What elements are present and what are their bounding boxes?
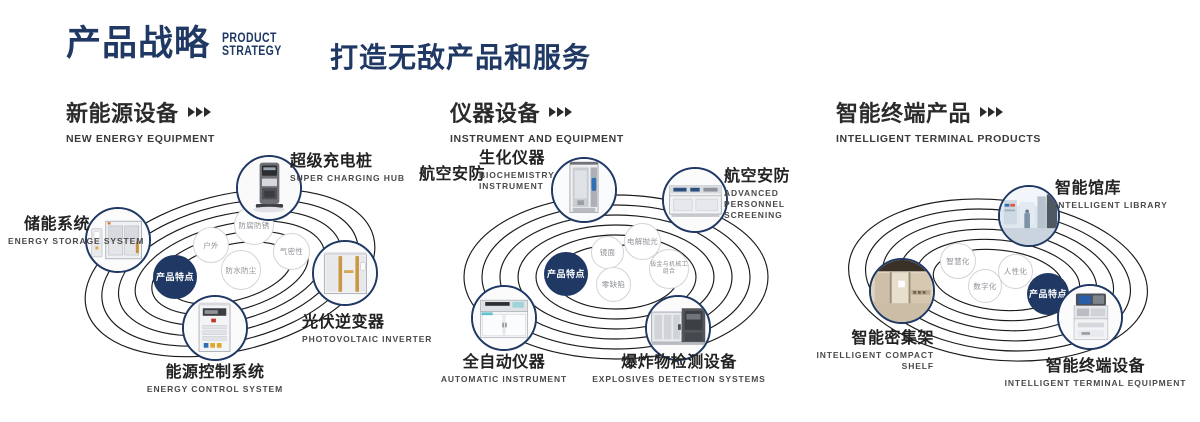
label-en-automatic-instrument: AUTOMATIC INSTRUMENT [409,374,599,385]
automatic-instrument-photo [473,287,535,349]
feature-bubble-1: 数字化 [968,269,1002,303]
label-en-advanced-personnel-screening: ADVANCED PERSONNEL SCREENING [724,188,814,221]
feature-bubble-3: 气密性 [273,233,310,270]
label-en-biochemistry-instrument: BIOCHEMISTRY INSTRUMENT [479,170,555,192]
label-automatic-instrument: 全自动仪器 AUTOMATIC INSTRUMENT [409,353,599,385]
node-advanced-personnel-screening[interactable] [662,167,728,233]
feature-bubble-0: 智慧化 [940,243,976,279]
label-intelligent-library: 智能馆库 INTELLIGENT LIBRARY [1055,179,1168,211]
intelligent-library-photo [1000,187,1058,245]
feature-label-1: 电解抛光 [627,237,658,246]
compact-shelf-photo [871,260,933,322]
label-cn-automatic-instrument: 全自动仪器 [409,353,599,372]
feature-label-0: 户外 [203,241,219,250]
feature-core-bubble: 产品特点 [153,255,197,299]
page-subtitle: 打造无敌产品和服务 [330,36,591,76]
section-heading-intelligent-terminal: 智能终端产品 INTELLIGENT TERMINAL PRODUCTS [836,96,1041,145]
section-heading-new-energy: 新能源设备 NEW ENERGY EQUIPMENT [66,96,215,145]
feature-core-label: 产品特点 [156,272,194,283]
label-en-photovoltaic-inverter: PHOTOVOLTAIC INVERTER [302,334,432,345]
label-photovoltaic-inverter: 光伏逆变器 PHOTOVOLTAIC INVERTER [302,313,432,345]
section-title-cn-2: 智能终端产品 [836,96,1041,128]
label-cn-intelligent-terminal-equipment: 智能终端设备 [988,357,1200,376]
page-title-en: PRODUCT STRATEGY [222,31,282,57]
personnel-screening-photo [664,169,726,231]
label-en-intelligent-library: INTELLIGENT LIBRARY [1055,200,1168,211]
label-en-energy-storage-system: ENERGY STORAGE SYSTEM [8,236,90,247]
page-title-en-line2: STRATEGY [222,44,282,57]
node-intelligent-compact-shelf[interactable] [869,258,935,324]
section-title-en-2: INTELLIGENT TERMINAL PRODUCTS [836,133,1041,145]
feature-label-0: 智慧化 [946,257,969,266]
section-title-cn-0: 新能源设备 [66,96,215,128]
feature-label-2: 零缺陷 [602,280,625,289]
label-cn-explosives-detection-systems: 爆炸物检测设备 [579,353,779,372]
section-title-text-1: 仪器设备 [450,96,540,128]
label-aviation-security-left: 航空安防 [390,165,485,184]
label-en-explosives-detection-systems: EXPLOSIVES DETECTION SYSTEMS [579,374,779,385]
node-biochemistry-instrument[interactable] [551,157,617,223]
section-title-text-2: 智能终端产品 [836,96,971,128]
node-explosives-detection-systems[interactable] [645,295,711,361]
label-cn-intelligent-library: 智能馆库 [1055,179,1168,198]
label-cn-intelligent-compact-shelf: 智能密集架 [764,329,934,348]
page-title-cn: 产品战略 [66,26,210,61]
label-cn-advanced-personnel-screening: 航空安防 [724,167,814,186]
label-en-energy-control-system: ENERGY CONTROL SYSTEM [85,384,345,395]
label-super-charging-hub: 超级充电桩 SUPER CHARGING HUB [290,152,405,184]
label-cn-energy-control-system: 能源控制系统 [85,363,345,382]
feature-label-2: 人性化 [1004,267,1027,276]
label-en-intelligent-terminal-equipment: INTELLIGENT TERMINAL EQUIPMENT [988,378,1200,389]
section-title-cn-1: 仪器设备 [450,96,624,128]
feature-label-1: 防腐防锈 [238,221,269,230]
label-cn-aviation-security-left: 航空安防 [390,165,485,184]
biochemistry-scanner-photo [553,159,615,221]
triple-chevron-right-icon [980,107,1004,117]
energy-control-cabinet-photo [184,297,246,359]
triple-chevron-right-icon [188,107,212,117]
label-cn-energy-storage-system: 储能系统 [8,215,90,234]
node-energy-control-system[interactable] [182,295,248,361]
section-title-text-0: 新能源设备 [66,96,179,128]
feature-bubble-2: 零缺陷 [596,267,631,302]
label-explosives-detection-systems: 爆炸物检测设备 EXPLOSIVES DETECTION SYSTEMS [579,353,779,385]
feature-bubble-0: 镜面 [591,236,624,269]
feature-bubble-2: 人性化 [998,254,1033,289]
feature-label-3: 钣金与机械工组合 [650,262,688,277]
feature-label-3: 气密性 [280,247,303,256]
feature-label-1: 数字化 [973,282,996,291]
pv-inverter-cabinet-photo [314,242,376,304]
label-cn-biochemistry-instrument: 生化仪器 [479,149,555,168]
cluster-intelligent-terminal: 智慧化 数字化 人性化 产品特点 [812,155,1200,395]
node-intelligent-library[interactable] [998,185,1060,247]
feature-core-label: 产品特点 [547,269,585,280]
label-intelligent-compact-shelf: 智能密集架 INTELLIGENT COMPACT SHELF [764,329,934,372]
label-intelligent-terminal-equipment: 智能终端设备 INTELLIGENT TERMINAL EQUIPMENT [988,357,1200,389]
feature-bubble-2: 防水防尘 [221,250,261,290]
feature-label-2: 防水防尘 [225,266,256,275]
product-strategy-infographic: 产品战略 PRODUCT STRATEGY 打造无敌产品和服务 新能源设备 NE… [0,0,1200,422]
self-service-kiosk-photo [1059,286,1121,348]
feature-core-label: 产品特点 [1029,289,1067,300]
triple-chevron-right-icon [549,107,573,117]
section-heading-instrument: 仪器设备 INSTRUMENT AND EQUIPMENT [450,96,624,145]
feature-core-bubble: 产品特点 [544,252,588,296]
section-title-en-1: INSTRUMENT AND EQUIPMENT [450,133,624,145]
feature-label-0: 镜面 [600,248,616,257]
label-energy-storage-system: 储能系统 ENERGY STORAGE SYSTEM [8,215,90,247]
label-energy-control-system: 能源控制系统 ENERGY CONTROL SYSTEM [85,363,345,395]
label-en-intelligent-compact-shelf: INTELLIGENT COMPACT SHELF [764,350,934,372]
explosives-detector-photo [647,297,709,359]
label-advanced-personnel-screening: 航空安防 ADVANCED PERSONNEL SCREENING [724,167,814,221]
node-automatic-instrument[interactable] [471,285,537,351]
node-photovoltaic-inverter[interactable] [312,240,378,306]
label-cn-photovoltaic-inverter: 光伏逆变器 [302,313,432,332]
label-en-super-charging-hub: SUPER CHARGING HUB [290,173,405,184]
label-cn-super-charging-hub: 超级充电桩 [290,152,405,171]
cluster-new-energy: 产品特点 户外 防腐防锈 防水防尘 气密性 [40,155,430,385]
node-intelligent-terminal-equipment[interactable] [1057,284,1123,350]
label-biochemistry-instrument: 生化仪器 BIOCHEMISTRY INSTRUMENT [479,149,555,192]
section-title-en-0: NEW ENERGY EQUIPMENT [66,133,215,145]
cluster-instrument: 产品特点 镜面 电解抛光 零缺陷 钣金与机械工组合 航空安防 [424,155,814,390]
feature-bubble-3: 钣金与机械工组合 [649,249,689,289]
page-title-block: 产品战略 PRODUCT STRATEGY [66,26,299,61]
